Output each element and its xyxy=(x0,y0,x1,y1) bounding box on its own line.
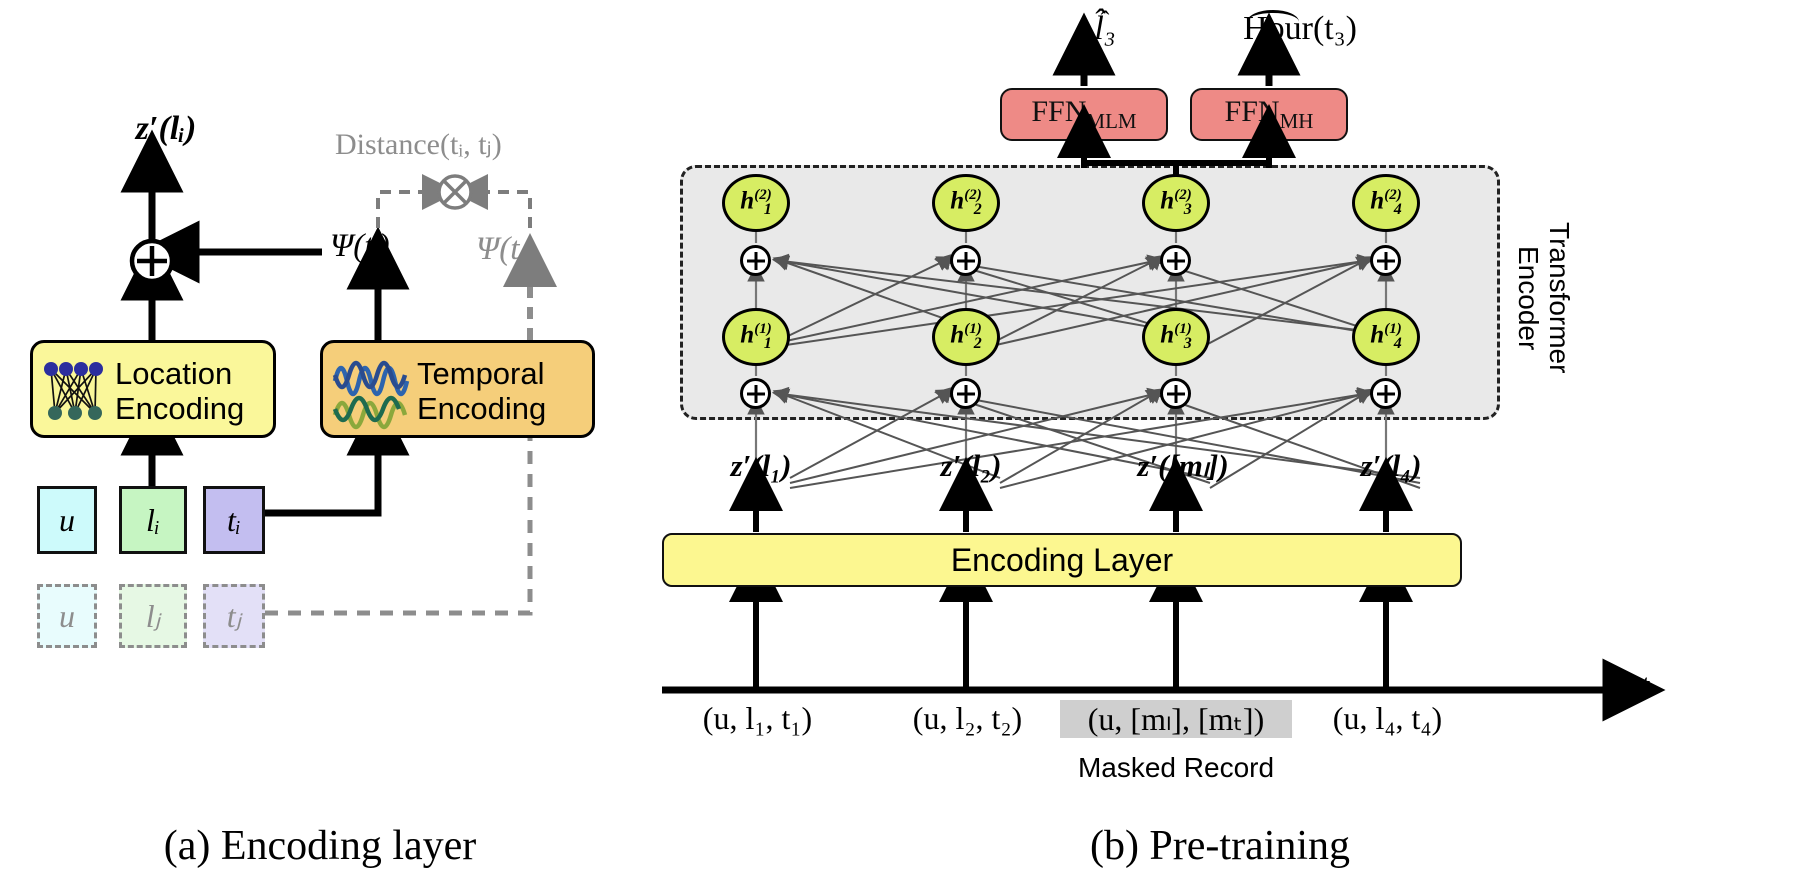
embedding-3: z′([mₗ]) xyxy=(1108,448,1258,484)
token-li[interactable]: lᵢ xyxy=(119,486,187,554)
residual-add-1-layer1 xyxy=(740,378,771,409)
token-lj-ghost[interactable]: lⱼ xyxy=(119,584,187,648)
embedding-4: z′(l₄) xyxy=(1326,448,1456,484)
record-3: (u, [mₗ], [mₜ]) xyxy=(1060,700,1292,738)
record-4: (u, l₄, t₄) xyxy=(1300,700,1475,737)
panel-pre-training: ̂ l̂₃ Hour(t₃) FFNMLM FFNMH TransformerE… xyxy=(640,0,1800,820)
token-ti[interactable]: tᵢ xyxy=(203,486,265,554)
record-1: (u, l₁, t₁) xyxy=(670,700,845,737)
temporal-encoding-box[interactable]: Temporal Encoding xyxy=(320,340,595,438)
encoding-layer-bar[interactable]: Encoding Layer xyxy=(662,533,1462,587)
residual-add-4-layer2 xyxy=(1370,245,1401,276)
residual-add-3-layer1 xyxy=(1160,378,1191,409)
residual-add-1-layer2 xyxy=(740,245,771,276)
location-encoding-box[interactable]: Location Encoding xyxy=(30,340,276,438)
encoding-layer-label: Encoding Layer xyxy=(951,542,1173,579)
h3-layer1[interactable]: h(1)3 xyxy=(1142,308,1210,366)
location-encoding-line1: Location xyxy=(115,356,232,391)
token-tj-ghost[interactable]: tⱼ xyxy=(203,584,265,648)
residual-add-4-layer1 xyxy=(1370,378,1401,409)
h2-layer1[interactable]: h(1)2 xyxy=(932,308,1000,366)
masked-record-caption: Masked Record xyxy=(1060,752,1292,784)
residual-add-2-layer1 xyxy=(950,378,981,409)
location-encoding-line2: Encoding xyxy=(115,391,244,426)
h1-layer2-sub: 1 xyxy=(764,201,772,218)
h1-layer2-base: h xyxy=(740,187,754,214)
temporal-encoding-line1: Temporal xyxy=(417,356,545,391)
h4-layer1[interactable]: h(1)4 xyxy=(1352,308,1420,366)
residual-add-2-layer2 xyxy=(950,245,981,276)
temporal-encoding-line2: Encoding xyxy=(417,391,546,426)
figure-root: z′(lᵢ) Distance(tᵢ, tⱼ) Ψ(tᵢ) Ψ(tⱼ) xyxy=(0,0,1800,895)
token-u-ghost[interactable]: u xyxy=(37,584,97,648)
record-2: (u, l₂, t₂) xyxy=(880,700,1055,737)
caption-a: (a) Encoding layer xyxy=(0,822,640,870)
embedding-1: z′(l₁) xyxy=(696,448,826,484)
neural-network-icon xyxy=(43,355,109,429)
panel-encoding-layer: z′(lᵢ) Distance(tᵢ, tⱼ) Ψ(tᵢ) Ψ(tⱼ) xyxy=(0,0,640,820)
panel-b-connections xyxy=(640,0,1800,820)
residual-add-3-layer2 xyxy=(1160,245,1191,276)
h1-layer2[interactable]: h(2)1 xyxy=(722,174,790,232)
h3-layer2[interactable]: h(2)3 xyxy=(1142,174,1210,232)
caption-b: (b) Pre-training xyxy=(880,822,1560,870)
h2-layer2[interactable]: h(2)2 xyxy=(932,174,1000,232)
token-u[interactable]: u xyxy=(37,486,97,554)
time-axis-label: t xyxy=(1640,668,1649,705)
h4-layer2[interactable]: h(2)4 xyxy=(1352,174,1420,232)
embedding-2: z′(l₂) xyxy=(906,448,1036,484)
h1-layer1[interactable]: h(1)1 xyxy=(722,308,790,366)
sine-waves-icon xyxy=(333,353,409,431)
